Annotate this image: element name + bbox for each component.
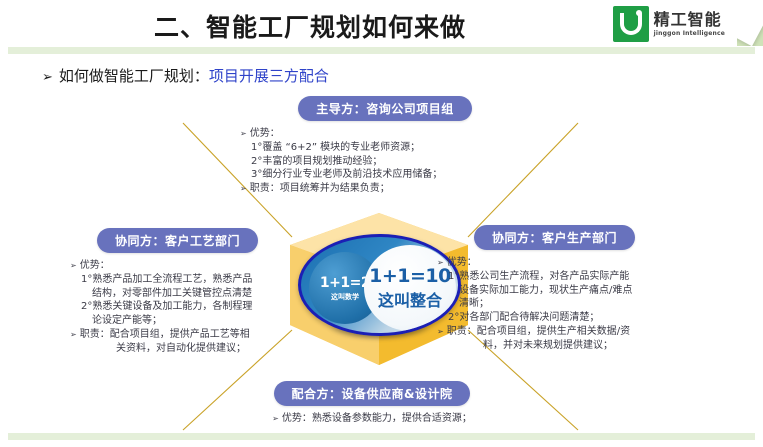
role-title-production[interactable]: 协同方：客户生产部门 [474,225,635,250]
detail-line-text: 职责：配合项目组，提供产品工艺等相 [80,329,250,340]
role-body-process: ➢优势：1°熟悉产品加工全流程工艺，熟悉产品结构，对零部件加工关键管控点清楚2°… [70,259,285,356]
detail-line: 2°对各部门配合待解决问题清楚； [437,311,672,325]
detail-line: ➢职责：项目统筹并为结果负责； [240,182,530,196]
detail-line-text: 优势：熟悉设备参数能力，提供合适资源； [282,413,472,424]
role-body-lead: ➢优势：1°覆盖 “6+2” 模块的专业老师资源；2°丰富的项目规划推动经验；3… [240,127,530,196]
detail-line: 清晰； [437,297,672,311]
detail-line: 1°覆盖 “6+2” 模块的专业老师资源； [240,141,530,155]
bullet-arrow-icon: ➢ [240,184,247,193]
detail-line: ➢优势：熟悉设备参数能力，提供合适资源； [212,412,532,426]
detail-line-text: 3°细分行业专业老师及前沿技术应用储备； [251,169,442,180]
left-circle-caption: 这叫数学 [331,292,359,302]
detail-line: 结构，对零部件加工关键管控点清楚 [70,287,285,301]
role-title-supplier[interactable]: 配合方：设备供应商&设计院 [274,381,471,406]
bullet-arrow-icon: ➢ [70,330,77,339]
detail-line: 论设定产能等； [70,314,285,328]
detail-line-text: 职责：项目统筹并为结果负责； [250,183,390,194]
bullet-arrow-icon: ➢ [240,129,247,138]
detail-line: 料，并对未来规划提供建议； [437,339,672,353]
detail-line: 1°熟悉公司生产流程，对各产品实际产能 [437,270,672,284]
detail-line: ➢优势： [70,259,285,273]
bullet-arrow-icon: ➢ [437,327,444,336]
role-box-process: 协同方：客户工艺部门 ➢优势：1°熟悉产品加工全流程工艺，熟悉产品结构，对零部件… [70,228,285,356]
bullet-arrow-icon: ➢ [70,261,77,270]
role-box-lead: 主导方：咨询公司项目组 ➢优势：1°覆盖 “6+2” 模块的专业老师资源；2°丰… [240,96,530,196]
detail-line-text: 1°覆盖 “6+2” 模块的专业老师资源； [251,142,420,153]
detail-line-text: 1°熟悉公司生产流程，对各产品实际产能 [448,271,629,282]
detail-line-text: 优势： [250,128,280,139]
role-box-supplier: 配合方：设备供应商&设计院 ➢优势：熟悉设备参数能力，提供合适资源； [212,381,532,426]
role-body-production: ➢优势：1°熟悉公司生产流程，对各产品实际产能设备实际加工能力，现状生产痛点/难… [437,256,672,353]
detail-line-text: 2°对各部门配合待解决问题清楚； [448,312,599,323]
role-body-supplier: ➢优势：熟悉设备参数能力，提供合适资源； [212,412,532,426]
detail-line: ➢优势： [437,256,672,270]
detail-line: 关资料，对自动化提供建议； [70,342,285,356]
detail-line-text: 2°熟悉关键设备及加工能力，各制程理 [81,301,252,312]
slide-canvas: 二、智能工厂规划如何来做 精工智能 jinggon Intelligence ➢… [0,0,763,447]
detail-line-text: 1°熟悉产品加工全流程工艺，熟悉产品 [81,274,252,285]
detail-line: 2°熟悉关键设备及加工能力，各制程理 [70,300,285,314]
detail-line-text: 职责：配合项目组，提供生产相关数据/资 [447,326,630,337]
detail-line: 设备实际加工能力，现状生产痛点/难点 [437,284,672,298]
right-circle-caption: 这叫整合 [378,287,442,311]
detail-line-text: 2°丰富的项目规划推动经验； [251,156,382,167]
left-circle-formula: 1+1=2 [320,275,370,291]
detail-line: ➢职责：配合项目组，提供产品工艺等相 [70,328,285,342]
detail-line: 2°丰富的项目规划推动经验； [240,155,530,169]
detail-line: 3°细分行业专业老师及前沿技术应用储备； [240,168,530,182]
role-title-lead[interactable]: 主导方：咨询公司项目组 [298,96,472,121]
detail-line-text: 设备实际加工能力，现状生产痛点/难点 [459,285,632,296]
detail-line-text: 清晰； [459,298,489,309]
detail-line: 1°熟悉产品加工全流程工艺，熟悉产品 [70,273,285,287]
detail-line-text: 料，并对未来规划提供建议； [483,340,613,351]
detail-line-text: 优势： [80,260,110,271]
detail-line-text: 论设定产能等； [92,315,162,326]
bullet-arrow-icon: ➢ [437,258,444,267]
role-title-process[interactable]: 协同方：客户工艺部门 [97,228,258,253]
detail-line-text: 关资料，对自动化提供建议； [116,343,246,354]
detail-line-text: 结构，对零部件加工关键管控点清楚 [92,288,252,299]
bullet-arrow-icon: ➢ [272,414,279,423]
role-box-production: 协同方：客户生产部门 ➢优势：1°熟悉公司生产流程，对各产品实际产能设备实际加工… [437,225,672,353]
detail-line: ➢优势： [240,127,530,141]
detail-line-text: 优势： [447,257,477,268]
detail-line: ➢职责：配合项目组，提供生产相关数据/资 [437,325,672,339]
